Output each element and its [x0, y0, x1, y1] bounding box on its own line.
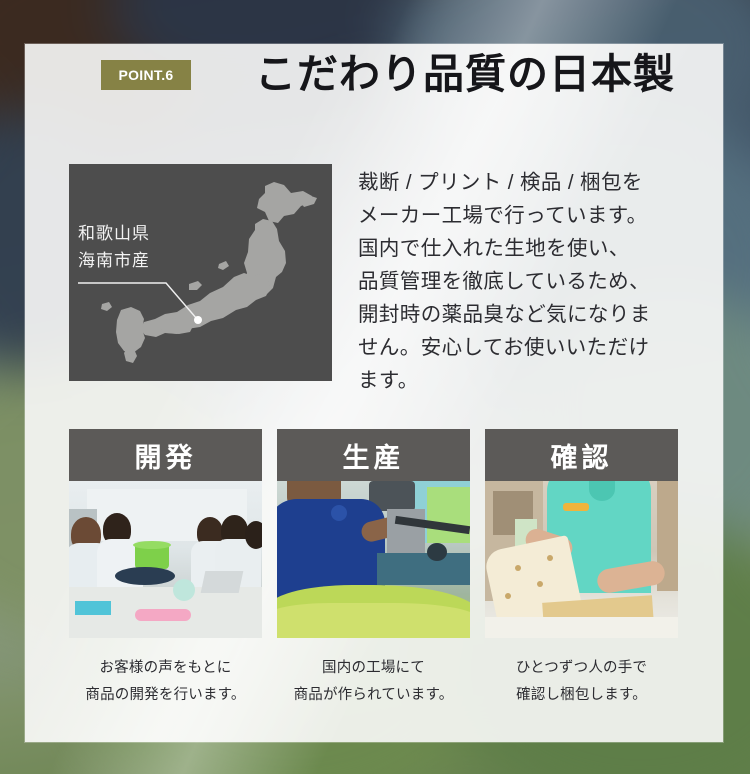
- body-line: メーカー工場で行っています。: [358, 199, 680, 232]
- column-heading: 確認: [485, 429, 678, 481]
- column-heading: 開発: [69, 429, 262, 481]
- caption-line2: 商品の開発を行います。: [69, 682, 262, 709]
- page-title: こだわり品質の日本製: [255, 42, 675, 106]
- map-location-label: 和歌山県 海南市産: [78, 220, 150, 274]
- japan-map-card: 和歌山県 海南市産: [69, 164, 332, 381]
- process-column-development: 開発 お客様の声をもとに: [69, 429, 262, 709]
- column-caption: ひとつずつ人の手で 確認し梱包します。: [485, 655, 678, 709]
- process-column-production: 生産 国内の工場にて 商品が作られています。: [277, 429, 470, 709]
- column-caption: お客様の声をもとに 商品の開発を行います。: [69, 655, 262, 709]
- process-column-inspection: 確認 ひとつずつ人の手で 確認し梱包します。: [485, 429, 678, 709]
- map-label-line1: 和歌山県: [78, 220, 150, 247]
- caption-line2: 確認し梱包します。: [485, 682, 678, 709]
- column-photo-production: [277, 481, 470, 638]
- column-photo-inspection: [485, 481, 678, 638]
- body-line: 開封時の薬品臭など気になりま: [358, 298, 680, 331]
- column-photo-development: [69, 481, 262, 638]
- column-caption: 国内の工場にて 商品が作られています。: [277, 655, 470, 709]
- body-line: 裁断 / プリント / 検品 / 梱包を: [358, 166, 680, 199]
- body-line: せん。安心してお使いいただけ: [358, 331, 680, 364]
- caption-line2: 商品が作られています。: [277, 682, 470, 709]
- body-line: ます。: [358, 364, 680, 397]
- header: POINT.6 こだわり品質の日本製: [72, 44, 672, 108]
- caption-line1: お客様の声をもとに: [69, 655, 262, 682]
- map-location-marker: [194, 316, 202, 324]
- body-paragraph: 裁断 / プリント / 検品 / 梱包を メーカー工場で行っています。 国内で仕…: [358, 166, 680, 397]
- point-badge: POINT.6: [101, 60, 191, 90]
- body-line: 国内で仕入れた生地を使い、: [358, 232, 680, 265]
- body-line: 品質管理を徹底しているため、: [358, 265, 680, 298]
- caption-line1: 国内の工場にて: [277, 655, 470, 682]
- map-label-line2: 海南市産: [78, 247, 150, 274]
- column-heading: 生産: [277, 429, 470, 481]
- caption-line1: ひとつずつ人の手で: [485, 655, 678, 682]
